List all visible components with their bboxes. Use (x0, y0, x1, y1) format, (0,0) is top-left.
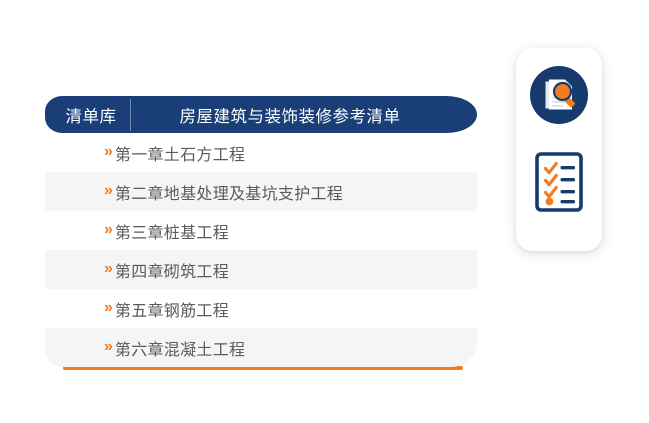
screenshot-canvas: 清单库 房屋建筑与装饰装修参考清单 » 第一章土石方工程 » 第二章地基处理及基… (0, 0, 649, 423)
list-item-label: 第四章砌筑工程 (115, 258, 229, 282)
list-item-label: 第二章地基处理及基坑支护工程 (115, 180, 343, 204)
list-item[interactable]: » 第六章混凝土工程 (45, 328, 477, 367)
icon-card (516, 48, 602, 251)
list-item-label: 第一章土石方工程 (115, 141, 245, 165)
banner-background: 清单库 房屋建筑与装饰装修参考清单 (45, 96, 477, 133)
chevron-right-icon: » (104, 300, 113, 316)
list-item[interactable]: » 第二章地基处理及基坑支护工程 (45, 172, 477, 211)
chapter-list: » 第一章土石方工程 » 第二章地基处理及基坑支护工程 » 第三章桩基工程 » … (45, 133, 477, 367)
chevron-right-icon: » (104, 144, 113, 160)
list-item[interactable]: » 第三章桩基工程 (45, 211, 477, 250)
list-item-label: 第六章混凝土工程 (115, 336, 245, 360)
chevron-right-icon: » (104, 339, 113, 355)
document-search-icon (530, 66, 588, 129)
banner-category-label[interactable]: 清单库 (45, 103, 130, 127)
chevron-right-icon: » (104, 222, 113, 238)
reference-list-module: 清单库 房屋建筑与装饰装修参考清单 » 第一章土石方工程 » 第二章地基处理及基… (45, 96, 477, 370)
list-item[interactable]: » 第五章钢筋工程 (45, 289, 477, 328)
banner-title: 房屋建筑与装饰装修参考清单 (133, 103, 477, 127)
list-header-banner: 清单库 房屋建筑与装饰装修参考清单 (45, 96, 477, 133)
chevron-right-icon: » (104, 183, 113, 199)
list-item-label: 第五章钢筋工程 (115, 297, 229, 321)
chevron-right-icon: » (104, 261, 113, 277)
banner-divider (130, 99, 131, 131)
list-item[interactable]: » 第一章土石方工程 (45, 133, 477, 172)
checklist-icon (534, 151, 584, 218)
list-item[interactable]: » 第四章砌筑工程 (45, 250, 477, 289)
list-item-label: 第三章桩基工程 (115, 219, 229, 243)
